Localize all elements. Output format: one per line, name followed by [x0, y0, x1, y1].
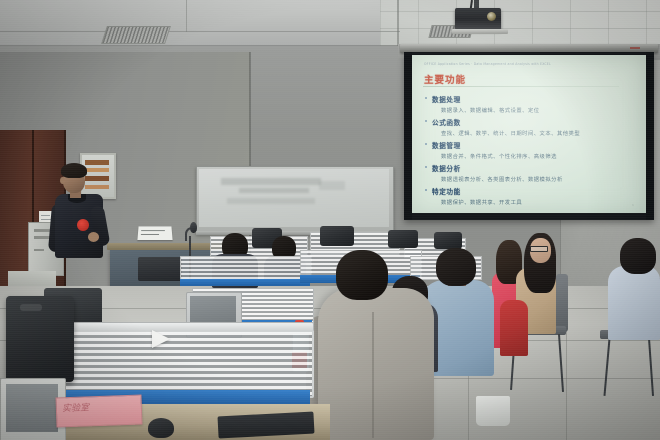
pink-desk-label-text: 实验室 — [62, 399, 136, 415]
projection-screen-edge — [404, 52, 412, 220]
audience-head — [336, 250, 388, 300]
ceiling-air-vent — [101, 26, 171, 44]
bullet-heading: 特定功能 — [432, 186, 522, 196]
projector-lens — [487, 12, 496, 21]
eyeglasses-icon — [530, 246, 548, 252]
picture-band — [85, 168, 109, 172]
bullet-detail: 数据合并、条件格式、个性化排序、高级筛选 — [441, 152, 557, 160]
name-card-text-line — [141, 230, 165, 231]
framed-wall-picture — [80, 153, 116, 199]
desk-trim — [180, 279, 310, 286]
projector-mount-plate — [452, 29, 508, 34]
presenter-hair — [61, 163, 87, 178]
presenter-ear — [60, 177, 65, 184]
notice-text-line — [41, 215, 50, 216]
bullet-heading: 数据分析 — [432, 163, 563, 173]
bullet-detail: 数据透视表分析、各类图表分析、数据模拟分析 — [441, 175, 563, 183]
ceiling-tile-grid — [380, 0, 660, 46]
picture-band — [85, 176, 109, 181]
name-card — [137, 226, 172, 240]
monitor-vent — [20, 304, 42, 311]
picture-band — [85, 160, 109, 165]
slide-title: 主要功能 — [424, 72, 466, 86]
ceiling-grid-panel — [380, 0, 660, 46]
slide-bullet-3: 数据管理 数据合并、条件格式、个性化排序、高级筛选 — [432, 140, 557, 160]
classroom-photo: OFFICE Application Series · Data Managem… — [0, 0, 660, 440]
lectern-monitor — [138, 257, 182, 281]
presenter-hand — [88, 232, 99, 242]
audience-man-grey-jacket — [318, 288, 434, 440]
monitor-back — [388, 230, 418, 248]
computer-mouse[interactable] — [148, 418, 174, 438]
chair-back — [556, 274, 568, 332]
whiteboard-erased-mark — [239, 188, 309, 193]
audience-man-white-shirt — [608, 266, 660, 340]
monitor-back — [434, 232, 462, 249]
bullet-detail: 数据录入、数据编辑、格式设置、定位 — [441, 106, 540, 114]
bullet-heading: 数据处理 — [432, 94, 540, 104]
waste-bin — [476, 396, 510, 426]
slide-bullet-2: 公式函数 查找、逻辑、数学、统计、日期时间、文本、其他类型 — [432, 117, 580, 137]
ceiling-seam — [397, 0, 399, 46]
projection-screen-edge — [646, 52, 654, 220]
slide-page-number: 1 — [632, 203, 634, 207]
audience-person-red — [500, 300, 528, 356]
folded-paper-tent — [152, 330, 170, 348]
monitor-screen — [6, 384, 58, 432]
microphone-icon — [190, 222, 197, 233]
ceiling-seam — [186, 0, 187, 32]
screen-roller-marking — [630, 47, 640, 49]
audience-head — [436, 248, 476, 286]
slide-bullet-1: 数据处理 数据录入、数据编辑、格式设置、定位 — [432, 94, 540, 114]
slide-title-divider — [423, 86, 619, 87]
usb-port — [34, 249, 44, 251]
whiteboard-erased-mark — [227, 198, 315, 204]
louvered-desk-partition — [62, 330, 314, 398]
whiteboard-erased-mark — [221, 178, 321, 185]
name-card-text-line — [141, 234, 159, 235]
bullet-detail: 查找、逻辑、数学、统计、日期时间、文本、其他类型 — [441, 129, 580, 137]
slide-header-text: OFFICE Application Series · Data Managem… — [424, 61, 624, 66]
bullet-heading: 数据管理 — [432, 140, 557, 150]
whiteboard[interactable] — [199, 169, 389, 227]
jacket-seam — [372, 312, 374, 438]
lectern-top — [107, 243, 225, 250]
picture-band — [85, 185, 109, 189]
whiteboard-erased-mark — [319, 181, 345, 190]
slide-bullet-4: 数据分析 数据透视表分析、各类图表分析、数据模拟分析 — [432, 163, 563, 183]
presenter-shirt-logo — [77, 219, 89, 231]
ceiling-seam — [0, 31, 400, 32]
monitor-back — [320, 226, 354, 246]
bullet-detail: 数据保护、数据共享、开发工具 — [441, 198, 522, 206]
bullet-heading: 公式函数 — [432, 117, 580, 127]
notice-text-line — [41, 219, 51, 220]
audience-head — [620, 238, 656, 274]
slide-bullet-5: 特定功能 数据保护、数据共享、开发工具 — [432, 186, 522, 206]
